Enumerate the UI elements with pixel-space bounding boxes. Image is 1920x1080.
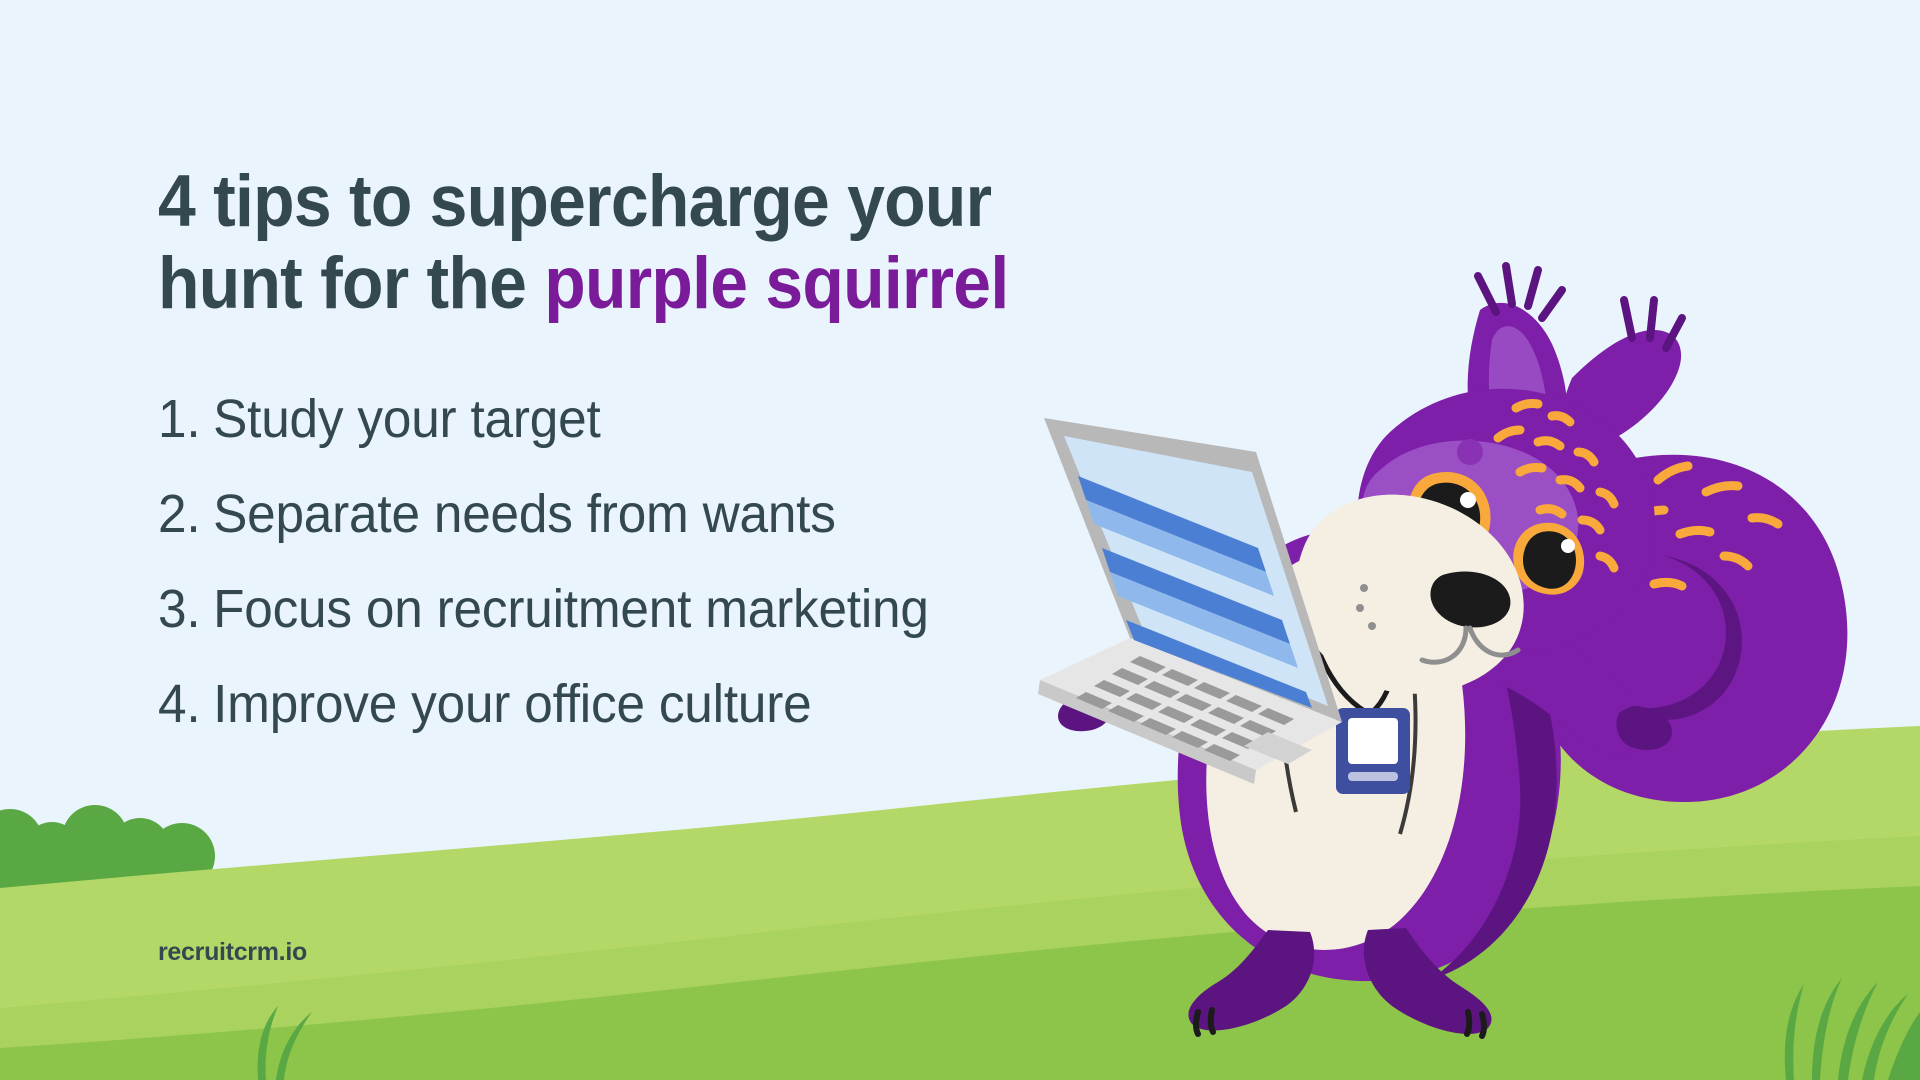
badge-card-line [1348, 772, 1398, 781]
illustration-purple-squirrel-with-laptop [0, 0, 1920, 1080]
squirrel-eye-right-glint [1561, 539, 1575, 553]
squirrel-eye-left-glint [1460, 492, 1476, 508]
badge-card-photo [1348, 718, 1398, 764]
squirrel-forehead-dot [1457, 439, 1483, 465]
slide-canvas: 4 tips to supercharge your hunt for the … [0, 0, 1920, 1080]
